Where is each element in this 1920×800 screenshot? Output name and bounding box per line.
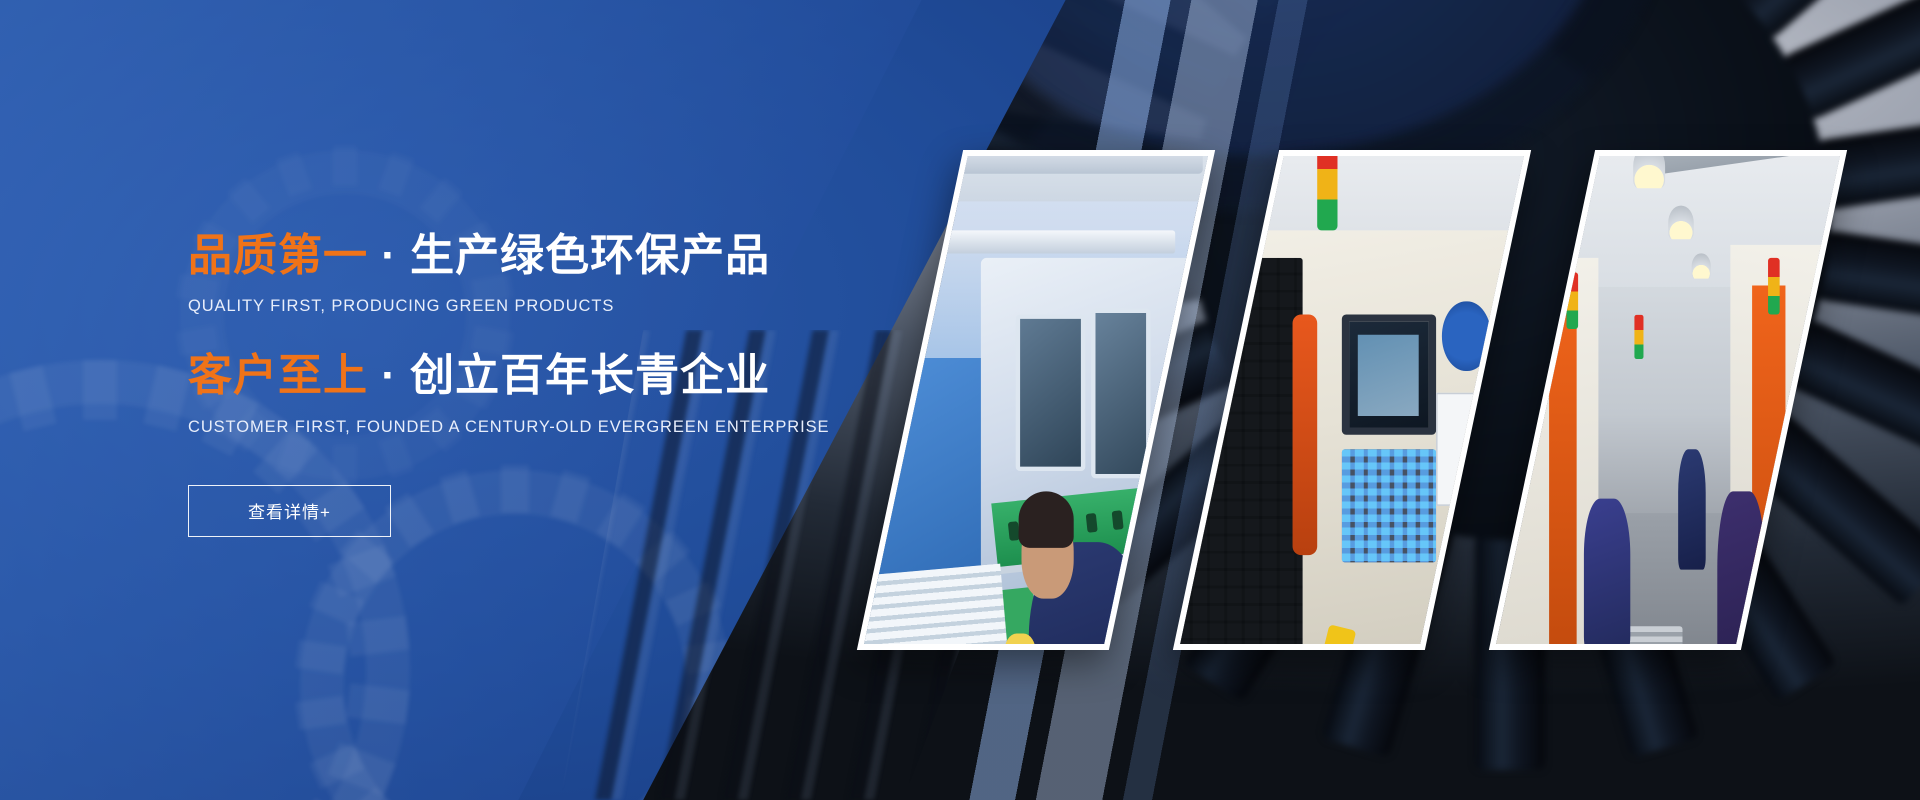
photo-collage <box>0 0 1920 800</box>
photo-1-image <box>864 156 1208 644</box>
photo-1-frame <box>864 156 1208 644</box>
hero-banner: 品质第一 · 生产绿色环保产品 QUALITY FIRST, PRODUCING… <box>0 0 1920 800</box>
photo-3-frame <box>1496 156 1840 644</box>
photo-cnc-machining-center[interactable] <box>1173 150 1531 650</box>
photo-factory-workshop-aisle[interactable] <box>1489 150 1847 650</box>
photo-2-frame <box>1180 156 1524 644</box>
photo-injection-molding-assembly-line[interactable] <box>857 150 1215 650</box>
photo-2-image <box>1180 156 1524 644</box>
photo-3-image <box>1496 156 1840 644</box>
